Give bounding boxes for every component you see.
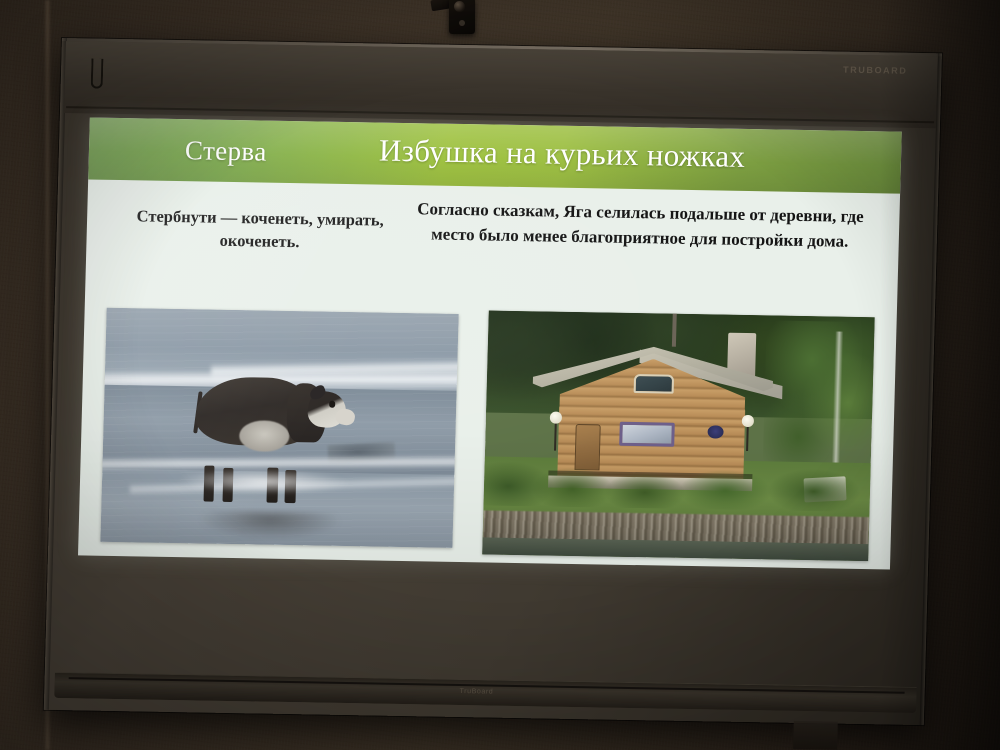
scene-vignette <box>0 0 1000 750</box>
classroom-photo-scene: TRUBOARD Стерва Избушка на курьих ножках… <box>0 0 1000 750</box>
right-wall-shadow <box>880 0 1000 750</box>
